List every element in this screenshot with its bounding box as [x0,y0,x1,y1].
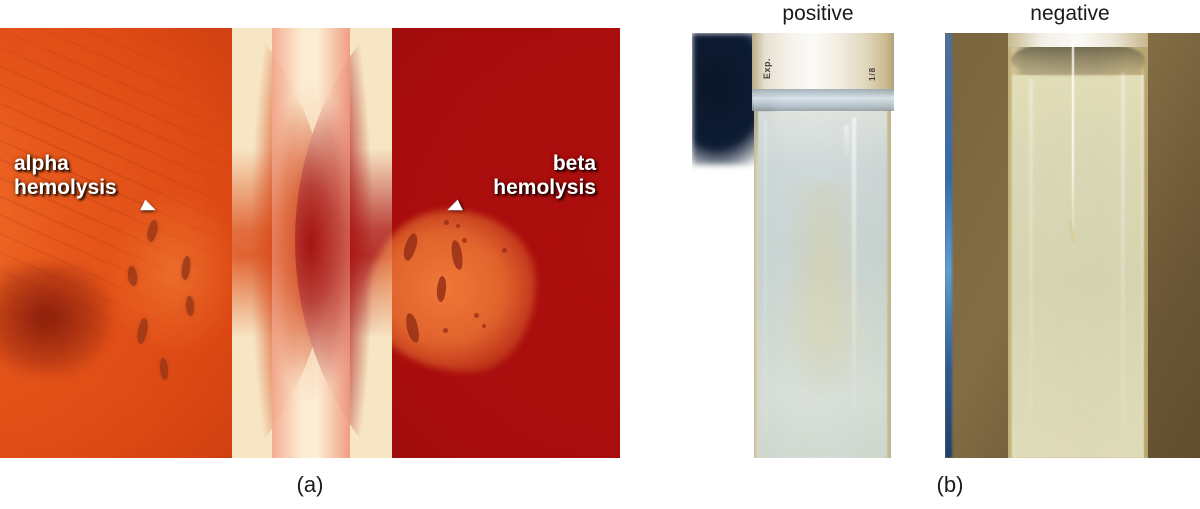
colony-dot [502,248,507,253]
cap-label-text-left: Exp. [762,58,772,79]
panel-b-test-tubes: Exp. 1/8 [692,33,1200,458]
inoculating-wire [1072,41,1074,241]
negative-glass-glare [1121,73,1125,453]
negative-tube-meniscus [1011,43,1145,77]
positive-tube-rim [752,89,894,111]
tube-heading-positive: positive [728,2,908,26]
negative-glass-glare [1141,69,1144,455]
colony-dot [443,328,448,333]
cap-label-text-right: 1/8 [868,67,877,81]
positive-tube-cap [752,33,894,95]
negative-tube-photo [945,33,1200,458]
positive-glass-glare [764,121,767,451]
negative-tube-cap [1008,33,1148,47]
colony-dot [456,224,460,228]
panel-a-caption: (a) [210,472,410,498]
negative-glass-glare [1029,79,1033,439]
dark-smudge [0,264,112,376]
tube-heading-negative: negative [980,2,1160,26]
positive-glass-glare [852,117,856,417]
beta-hemolysis-label: beta hemolysis [493,152,596,201]
beta-hemolysis-zone [368,210,536,372]
positive-turbidity-secondary [772,268,876,388]
colony-dot [474,313,479,318]
plate-gap-highlight [272,28,350,458]
colony-dot [462,238,467,243]
figure: alpha hemolysis beta hemolysis positive … [0,0,1200,509]
panel-b-caption: (b) [850,472,1050,498]
positive-tube-photo: Exp. 1/8 [692,33,945,458]
negative-backdrop-blue-edge [945,33,952,458]
positive-drip [844,125,849,161]
alpha-hemolysis-label: alpha hemolysis [14,152,117,201]
colony-dot [444,220,449,225]
blood-agar-photo: alpha hemolysis beta hemolysis [0,28,620,458]
panel-a-blood-agar: alpha hemolysis beta hemolysis [0,28,620,458]
colony-dot [482,324,486,328]
